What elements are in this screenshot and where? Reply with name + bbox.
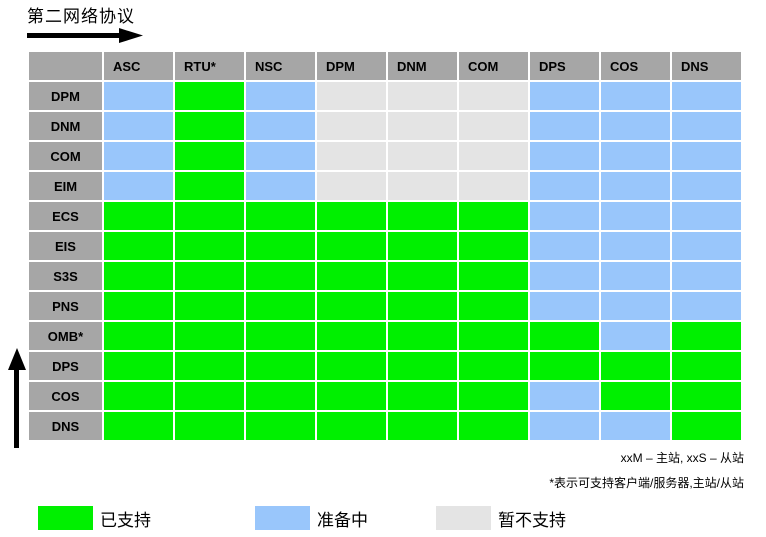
legend-label: 已支持 bbox=[100, 506, 151, 531]
matrix-cell bbox=[388, 322, 457, 350]
matrix-row-header-com: COM bbox=[29, 142, 102, 170]
matrix-row-header-s3s: S3S bbox=[29, 262, 102, 290]
matrix-cell bbox=[601, 82, 670, 110]
matrix-cell bbox=[530, 412, 599, 440]
legend-item-blue: 准备中 bbox=[255, 506, 368, 531]
matrix-cell bbox=[388, 352, 457, 380]
matrix-row-header-eim: EIM bbox=[29, 172, 102, 200]
matrix-cell bbox=[672, 112, 741, 140]
note-line-2: *表示可支持客户端/服务器,主站/从站 bbox=[549, 474, 744, 491]
matrix-cell bbox=[388, 262, 457, 290]
legend: 已支持准备中暂不支持 bbox=[38, 505, 566, 531]
matrix-cell bbox=[601, 172, 670, 200]
matrix-cell bbox=[388, 202, 457, 230]
matrix-col-header-dnm: DNM bbox=[388, 52, 457, 80]
legend-item-gray: 暂不支持 bbox=[436, 506, 566, 531]
matrix-cell bbox=[175, 82, 244, 110]
matrix-col-header-dps: DPS bbox=[530, 52, 599, 80]
matrix-cell bbox=[530, 112, 599, 140]
matrix-cell bbox=[104, 202, 173, 230]
matrix-col-header-nsc: NSC bbox=[246, 52, 315, 80]
matrix-row: DNM bbox=[29, 112, 741, 140]
matrix-row: EIM bbox=[29, 172, 741, 200]
arrow-up-icon bbox=[8, 348, 26, 448]
matrix-cell bbox=[601, 202, 670, 230]
matrix-cell bbox=[246, 412, 315, 440]
matrix-cell bbox=[672, 202, 741, 230]
matrix-cell bbox=[246, 172, 315, 200]
matrix-row: PNS bbox=[29, 292, 741, 320]
matrix-cell bbox=[104, 262, 173, 290]
matrix-cell bbox=[388, 232, 457, 260]
matrix-cell bbox=[175, 112, 244, 140]
matrix-cell bbox=[459, 412, 528, 440]
matrix-cell bbox=[175, 382, 244, 410]
legend-swatch-blue bbox=[255, 506, 310, 530]
matrix-cell bbox=[459, 382, 528, 410]
matrix-cell bbox=[246, 202, 315, 230]
matrix-cell bbox=[104, 382, 173, 410]
matrix-header: ASCRTU*NSCDPMDNMCOMDPSCOSDNS bbox=[29, 52, 741, 80]
matrix-col-header-rtu: RTU* bbox=[175, 52, 244, 80]
matrix-cell bbox=[104, 172, 173, 200]
matrix-cell bbox=[601, 352, 670, 380]
matrix-row: COM bbox=[29, 142, 741, 170]
matrix-cell bbox=[530, 382, 599, 410]
legend-swatch-green bbox=[38, 506, 93, 530]
matrix-row: DPM bbox=[29, 82, 741, 110]
matrix-cell bbox=[530, 262, 599, 290]
note-line-1: xxM – 主站, xxS – 从站 bbox=[621, 449, 744, 466]
matrix-row: OMB* bbox=[29, 322, 741, 350]
matrix-cell bbox=[530, 232, 599, 260]
matrix-cell bbox=[530, 172, 599, 200]
matrix-cell bbox=[246, 142, 315, 170]
matrix-cell bbox=[104, 352, 173, 380]
matrix-cell bbox=[672, 172, 741, 200]
matrix-cell bbox=[601, 292, 670, 320]
matrix-col-header-dns: DNS bbox=[672, 52, 741, 80]
matrix-cell bbox=[530, 292, 599, 320]
matrix-cell bbox=[672, 382, 741, 410]
matrix-cell bbox=[246, 292, 315, 320]
matrix-row-header-omb: OMB* bbox=[29, 322, 102, 350]
matrix-cell bbox=[317, 172, 386, 200]
matrix-cell bbox=[388, 412, 457, 440]
matrix-cell bbox=[530, 322, 599, 350]
matrix-cell bbox=[175, 172, 244, 200]
matrix-cell bbox=[672, 292, 741, 320]
matrix-cell bbox=[175, 322, 244, 350]
matrix-col-header-asc: ASC bbox=[104, 52, 173, 80]
matrix-cell bbox=[175, 292, 244, 320]
matrix-cell bbox=[672, 322, 741, 350]
matrix-row-header-dnm: DNM bbox=[29, 112, 102, 140]
matrix-cell bbox=[317, 232, 386, 260]
matrix-cell bbox=[459, 292, 528, 320]
matrix-cell bbox=[388, 142, 457, 170]
matrix-cell bbox=[459, 322, 528, 350]
matrix-cell bbox=[388, 292, 457, 320]
matrix-cell bbox=[388, 82, 457, 110]
matrix-cell bbox=[459, 82, 528, 110]
matrix-cell bbox=[459, 262, 528, 290]
matrix-cell bbox=[317, 202, 386, 230]
matrix-row-header-eis: EIS bbox=[29, 232, 102, 260]
matrix-cell bbox=[317, 82, 386, 110]
matrix-row-header-pns: PNS bbox=[29, 292, 102, 320]
protocol-support-matrix: ASCRTU*NSCDPMDNMCOMDPSCOSDNS DPMDNMCOMEI… bbox=[27, 50, 743, 442]
matrix-cell bbox=[601, 322, 670, 350]
matrix-body: DPMDNMCOMEIMECSEISS3SPNSOMB*DPSCOSDNS bbox=[29, 82, 741, 440]
matrix-cell bbox=[672, 352, 741, 380]
matrix-cell bbox=[246, 352, 315, 380]
matrix-corner-cell bbox=[29, 52, 102, 80]
matrix-cell bbox=[601, 412, 670, 440]
matrix-cell bbox=[175, 142, 244, 170]
matrix-cell bbox=[175, 412, 244, 440]
matrix-cell bbox=[317, 412, 386, 440]
matrix-row: EIS bbox=[29, 232, 741, 260]
matrix-cell bbox=[104, 142, 173, 170]
matrix-row-header-dpm: DPM bbox=[29, 82, 102, 110]
matrix-cell bbox=[317, 322, 386, 350]
matrix-cell bbox=[601, 112, 670, 140]
matrix-cell bbox=[388, 382, 457, 410]
matrix-cell bbox=[672, 232, 741, 260]
matrix-cell bbox=[175, 352, 244, 380]
matrix-cell bbox=[317, 112, 386, 140]
matrix-cell bbox=[459, 232, 528, 260]
matrix-cell bbox=[459, 172, 528, 200]
matrix-cell bbox=[317, 262, 386, 290]
matrix-cell bbox=[530, 202, 599, 230]
matrix-cell bbox=[459, 112, 528, 140]
matrix-cell bbox=[246, 82, 315, 110]
matrix-cell bbox=[317, 142, 386, 170]
matrix-cell bbox=[530, 142, 599, 170]
matrix-cell bbox=[317, 382, 386, 410]
matrix-cell bbox=[246, 382, 315, 410]
matrix-cell bbox=[459, 352, 528, 380]
arrow-right-icon bbox=[27, 28, 143, 44]
matrix-row: S3S bbox=[29, 262, 741, 290]
matrix-cell bbox=[672, 142, 741, 170]
matrix-cell bbox=[530, 352, 599, 380]
matrix-cell bbox=[246, 232, 315, 260]
matrix-cell bbox=[459, 202, 528, 230]
matrix-cell bbox=[104, 82, 173, 110]
matrix-col-header-cos: COS bbox=[601, 52, 670, 80]
legend-label: 暂不支持 bbox=[498, 506, 566, 531]
matrix-cell bbox=[104, 112, 173, 140]
matrix-cell bbox=[388, 172, 457, 200]
matrix-row-header-cos: COS bbox=[29, 382, 102, 410]
matrix-cell bbox=[317, 352, 386, 380]
matrix-col-header-dpm: DPM bbox=[317, 52, 386, 80]
matrix-cell bbox=[672, 262, 741, 290]
legend-item-green: 已支持 bbox=[38, 506, 151, 531]
matrix-cell bbox=[530, 82, 599, 110]
legend-label: 准备中 bbox=[317, 506, 368, 531]
matrix-cell bbox=[104, 232, 173, 260]
matrix-cell bbox=[601, 142, 670, 170]
matrix-col-header-com: COM bbox=[459, 52, 528, 80]
matrix-row: ECS bbox=[29, 202, 741, 230]
matrix-cell bbox=[175, 202, 244, 230]
matrix-header-row: ASCRTU*NSCDPMDNMCOMDPSCOSDNS bbox=[29, 52, 741, 80]
matrix-row: COS bbox=[29, 382, 741, 410]
matrix-cell bbox=[601, 262, 670, 290]
matrix-cell bbox=[388, 112, 457, 140]
matrix-cell bbox=[317, 292, 386, 320]
matrix-cell bbox=[601, 232, 670, 260]
matrix-cell bbox=[175, 232, 244, 260]
matrix-cell bbox=[459, 142, 528, 170]
matrix-cell bbox=[246, 112, 315, 140]
matrix-cell bbox=[175, 262, 244, 290]
matrix-cell bbox=[246, 322, 315, 350]
matrix-cell bbox=[246, 262, 315, 290]
matrix-row-header-dps: DPS bbox=[29, 352, 102, 380]
matrix-cell bbox=[104, 322, 173, 350]
matrix-row-header-dns: DNS bbox=[29, 412, 102, 440]
legend-swatch-gray bbox=[436, 506, 491, 530]
matrix-cell bbox=[672, 412, 741, 440]
matrix-cell bbox=[104, 292, 173, 320]
matrix-cell bbox=[104, 412, 173, 440]
matrix-cell bbox=[601, 382, 670, 410]
top-axis-label: 第二网络协议 bbox=[27, 2, 135, 27]
matrix-cell bbox=[672, 82, 741, 110]
matrix-row: DPS bbox=[29, 352, 741, 380]
matrix-row: DNS bbox=[29, 412, 741, 440]
matrix-row-header-ecs: ECS bbox=[29, 202, 102, 230]
